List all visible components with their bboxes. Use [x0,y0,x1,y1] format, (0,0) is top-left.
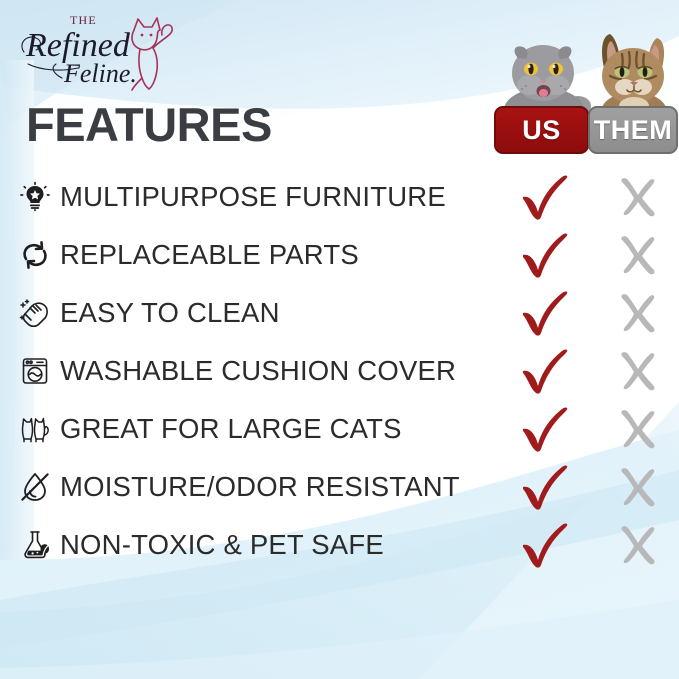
badge-us[interactable]: US [494,106,589,154]
refined-feline-logo-mark: THE Refined Feline. [16,8,184,94]
x-mark-them [612,464,664,510]
x-mark-them [612,232,664,278]
logo-the-text: THE [70,13,97,27]
feature-label: REPLACEABLE PARTS [60,239,359,271]
feature-row: GREAT FOR LARGE CATS [0,400,679,458]
feature-row: EASY TO CLEAN [0,284,679,342]
check-mark-us [518,231,574,279]
x-mark-them [612,290,664,336]
washing-machine-icon [18,354,52,388]
feature-label: GREAT FOR LARGE CATS [60,413,402,445]
features-list: MULTIPURPOSE FURNITURE [0,168,679,574]
x-mark-them [612,406,664,452]
check-mark-us [518,289,574,337]
page-title: FEATURES [26,101,272,148]
logo-feline-text: Feline. [63,59,137,88]
feature-label: EASY TO CLEAN [60,297,280,329]
logo-cat-silhouette [132,18,172,90]
flask-leaf-icon [18,528,52,562]
no-water-drop-icon [18,470,52,504]
badge-them[interactable]: THEM [588,106,678,154]
x-mark-them [612,174,664,220]
check-mark-us [518,347,574,395]
recycle-arrows-icon [18,238,52,272]
wiping-hand-icon [18,296,52,330]
check-mark-us [518,405,574,453]
check-mark-us [518,463,574,511]
feature-row: WASHABLE CUSHION COVER [0,342,679,400]
x-mark-them [612,348,664,394]
x-mark-them [612,522,664,568]
feature-label: MULTIPURPOSE FURNITURE [60,181,446,213]
lightbulb-star-icon [18,180,52,214]
feature-row: NON-TOXIC & PET SAFE [0,516,679,574]
check-mark-us [518,173,574,221]
feature-row: REPLACEABLE PARTS [0,226,679,284]
check-mark-us [518,521,574,569]
two-cats-icon [18,412,52,446]
brand-logo: THE Refined Feline. [16,8,184,94]
feature-label: MOISTURE/ODOR RESISTANT [60,471,460,503]
feature-label: NON-TOXIC & PET SAFE [60,529,384,561]
feature-row: MOISTURE/ODOR RESISTANT [0,458,679,516]
feature-row: MULTIPURPOSE FURNITURE [0,168,679,226]
comparison-infographic: THE Refined Feline. FEATURES [0,0,679,679]
feature-label: WASHABLE CUSHION COVER [60,355,456,387]
